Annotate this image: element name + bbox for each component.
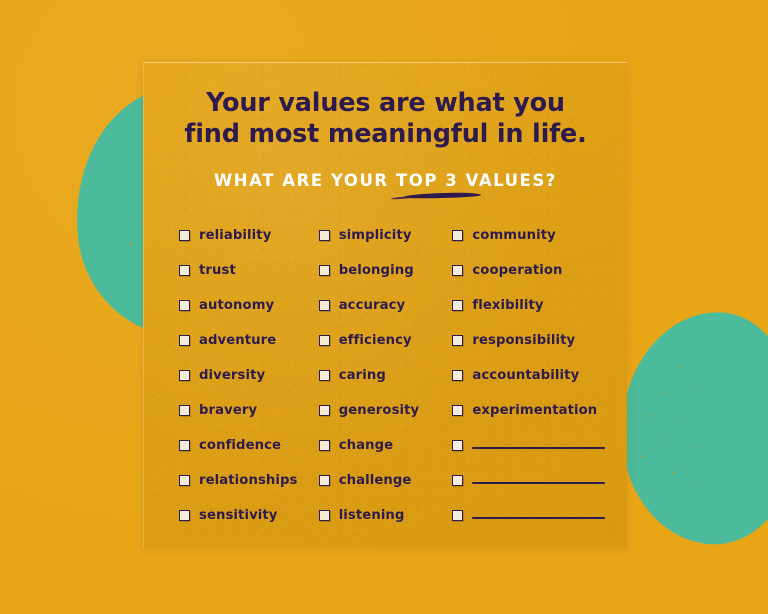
value-option-label: caring [339,368,386,383]
value-option-label: adventure [199,333,276,348]
subhead: WHAT ARE YOUR TOP 3 VALUES? [144,171,627,190]
value-option-row[interactable]: caring [319,358,453,393]
checkbox-icon[interactable] [319,230,330,241]
value-option-label: trust [199,263,236,278]
checkbox-icon[interactable] [319,510,330,521]
checkbox-icon[interactable] [452,370,463,381]
checkbox-icon[interactable] [452,300,463,311]
value-option-row[interactable]: autonomy [179,288,319,323]
value-option-row[interactable]: relationships [179,463,319,498]
value-option-row[interactable]: sensitivity [179,498,319,533]
values-column-1: reliabilitytrustautonomyadventurediversi… [179,218,319,533]
checkbox-icon[interactable] [179,265,190,276]
value-option-row[interactable]: reliability [179,218,319,253]
value-option-row[interactable] [452,498,627,533]
value-option-row[interactable]: efficiency [319,323,453,358]
page-title: Your values are what you find most meani… [144,63,627,150]
value-option-row[interactable]: challenge [319,463,453,498]
value-option-row[interactable]: confidence [179,428,319,463]
headline-line-1: Your values are what you [178,88,593,119]
values-card: Your values are what you find most meani… [143,62,627,548]
value-option-label: generosity [339,403,420,418]
checkbox-icon[interactable] [179,405,190,416]
value-option-label: accountability [472,368,579,383]
value-option-label: relationships [199,473,298,488]
value-option-label: autonomy [199,298,274,313]
checkbox-icon[interactable] [452,475,463,486]
value-option-row[interactable]: responsibility [452,323,627,358]
value-option-label: belonging [339,263,414,278]
value-option-row[interactable]: adventure [179,323,319,358]
value-option-label: bravery [199,403,257,418]
value-option-row[interactable]: generosity [319,393,453,428]
value-option-row[interactable]: flexibility [452,288,627,323]
value-option-row[interactable]: accountability [452,358,627,393]
value-option-label: simplicity [339,228,412,243]
checkbox-icon[interactable] [452,265,463,276]
checkbox-icon[interactable] [319,265,330,276]
value-option-row[interactable]: trust [179,253,319,288]
checkbox-icon[interactable] [452,510,463,521]
poster-canvas: Your values are what you find most meani… [0,0,768,614]
value-option-label: experimentation [472,403,597,418]
value-option-row[interactable]: experimentation [452,393,627,428]
value-option-label: accuracy [339,298,406,313]
value-option-label: efficiency [339,333,412,348]
checkbox-icon[interactable] [319,335,330,346]
headline-line-2: find most meaningful in life. [178,119,593,150]
value-option-row[interactable]: cooperation [452,253,627,288]
checkbox-icon[interactable] [452,335,463,346]
value-option-label: diversity [199,368,265,383]
checkbox-icon[interactable] [179,300,190,311]
write-in-line[interactable] [472,517,605,519]
checkbox-icon[interactable] [319,440,330,451]
value-option-label: confidence [199,438,281,453]
checkbox-icon[interactable] [179,440,190,451]
value-option-label: listening [339,508,405,523]
checkbox-icon[interactable] [179,510,190,521]
checkbox-icon[interactable] [319,475,330,486]
value-option-label: challenge [339,473,412,488]
values-column-2: simplicitybelongingaccuracyefficiencycar… [319,218,453,533]
value-option-label: reliability [199,228,271,243]
checkbox-icon[interactable] [452,230,463,241]
value-option-label: flexibility [472,298,543,313]
checkbox-icon[interactable] [319,370,330,381]
value-option-label: sensitivity [199,508,278,523]
values-column-3: communitycooperationflexibilityresponsib… [452,218,627,533]
checkbox-icon[interactable] [179,230,190,241]
checkbox-icon[interactable] [452,405,463,416]
value-option-label: cooperation [472,263,562,278]
value-option-row[interactable]: accuracy [319,288,453,323]
value-option-row[interactable] [452,463,627,498]
value-option-row[interactable] [452,428,627,463]
value-option-row[interactable]: simplicity [319,218,453,253]
teal-blob-right [614,306,768,550]
checkbox-icon[interactable] [319,300,330,311]
write-in-line[interactable] [472,447,605,449]
value-option-row[interactable]: diversity [179,358,319,393]
value-option-row[interactable]: change [319,428,453,463]
value-option-label: community [472,228,555,243]
value-option-row[interactable]: bravery [179,393,319,428]
checkbox-icon[interactable] [179,475,190,486]
checkbox-icon[interactable] [452,440,463,451]
value-option-row[interactable]: community [452,218,627,253]
value-option-label: responsibility [472,333,575,348]
write-in-line[interactable] [472,482,605,484]
checkbox-icon[interactable] [179,370,190,381]
checkbox-icon[interactable] [319,405,330,416]
value-option-row[interactable]: belonging [319,253,453,288]
values-checklist: reliabilitytrustautonomyadventurediversi… [144,190,627,533]
value-option-label: change [339,438,393,453]
subhead-wrap: WHAT ARE YOUR TOP 3 VALUES? [144,171,627,190]
value-option-row[interactable]: listening [319,498,453,533]
checkbox-icon[interactable] [179,335,190,346]
